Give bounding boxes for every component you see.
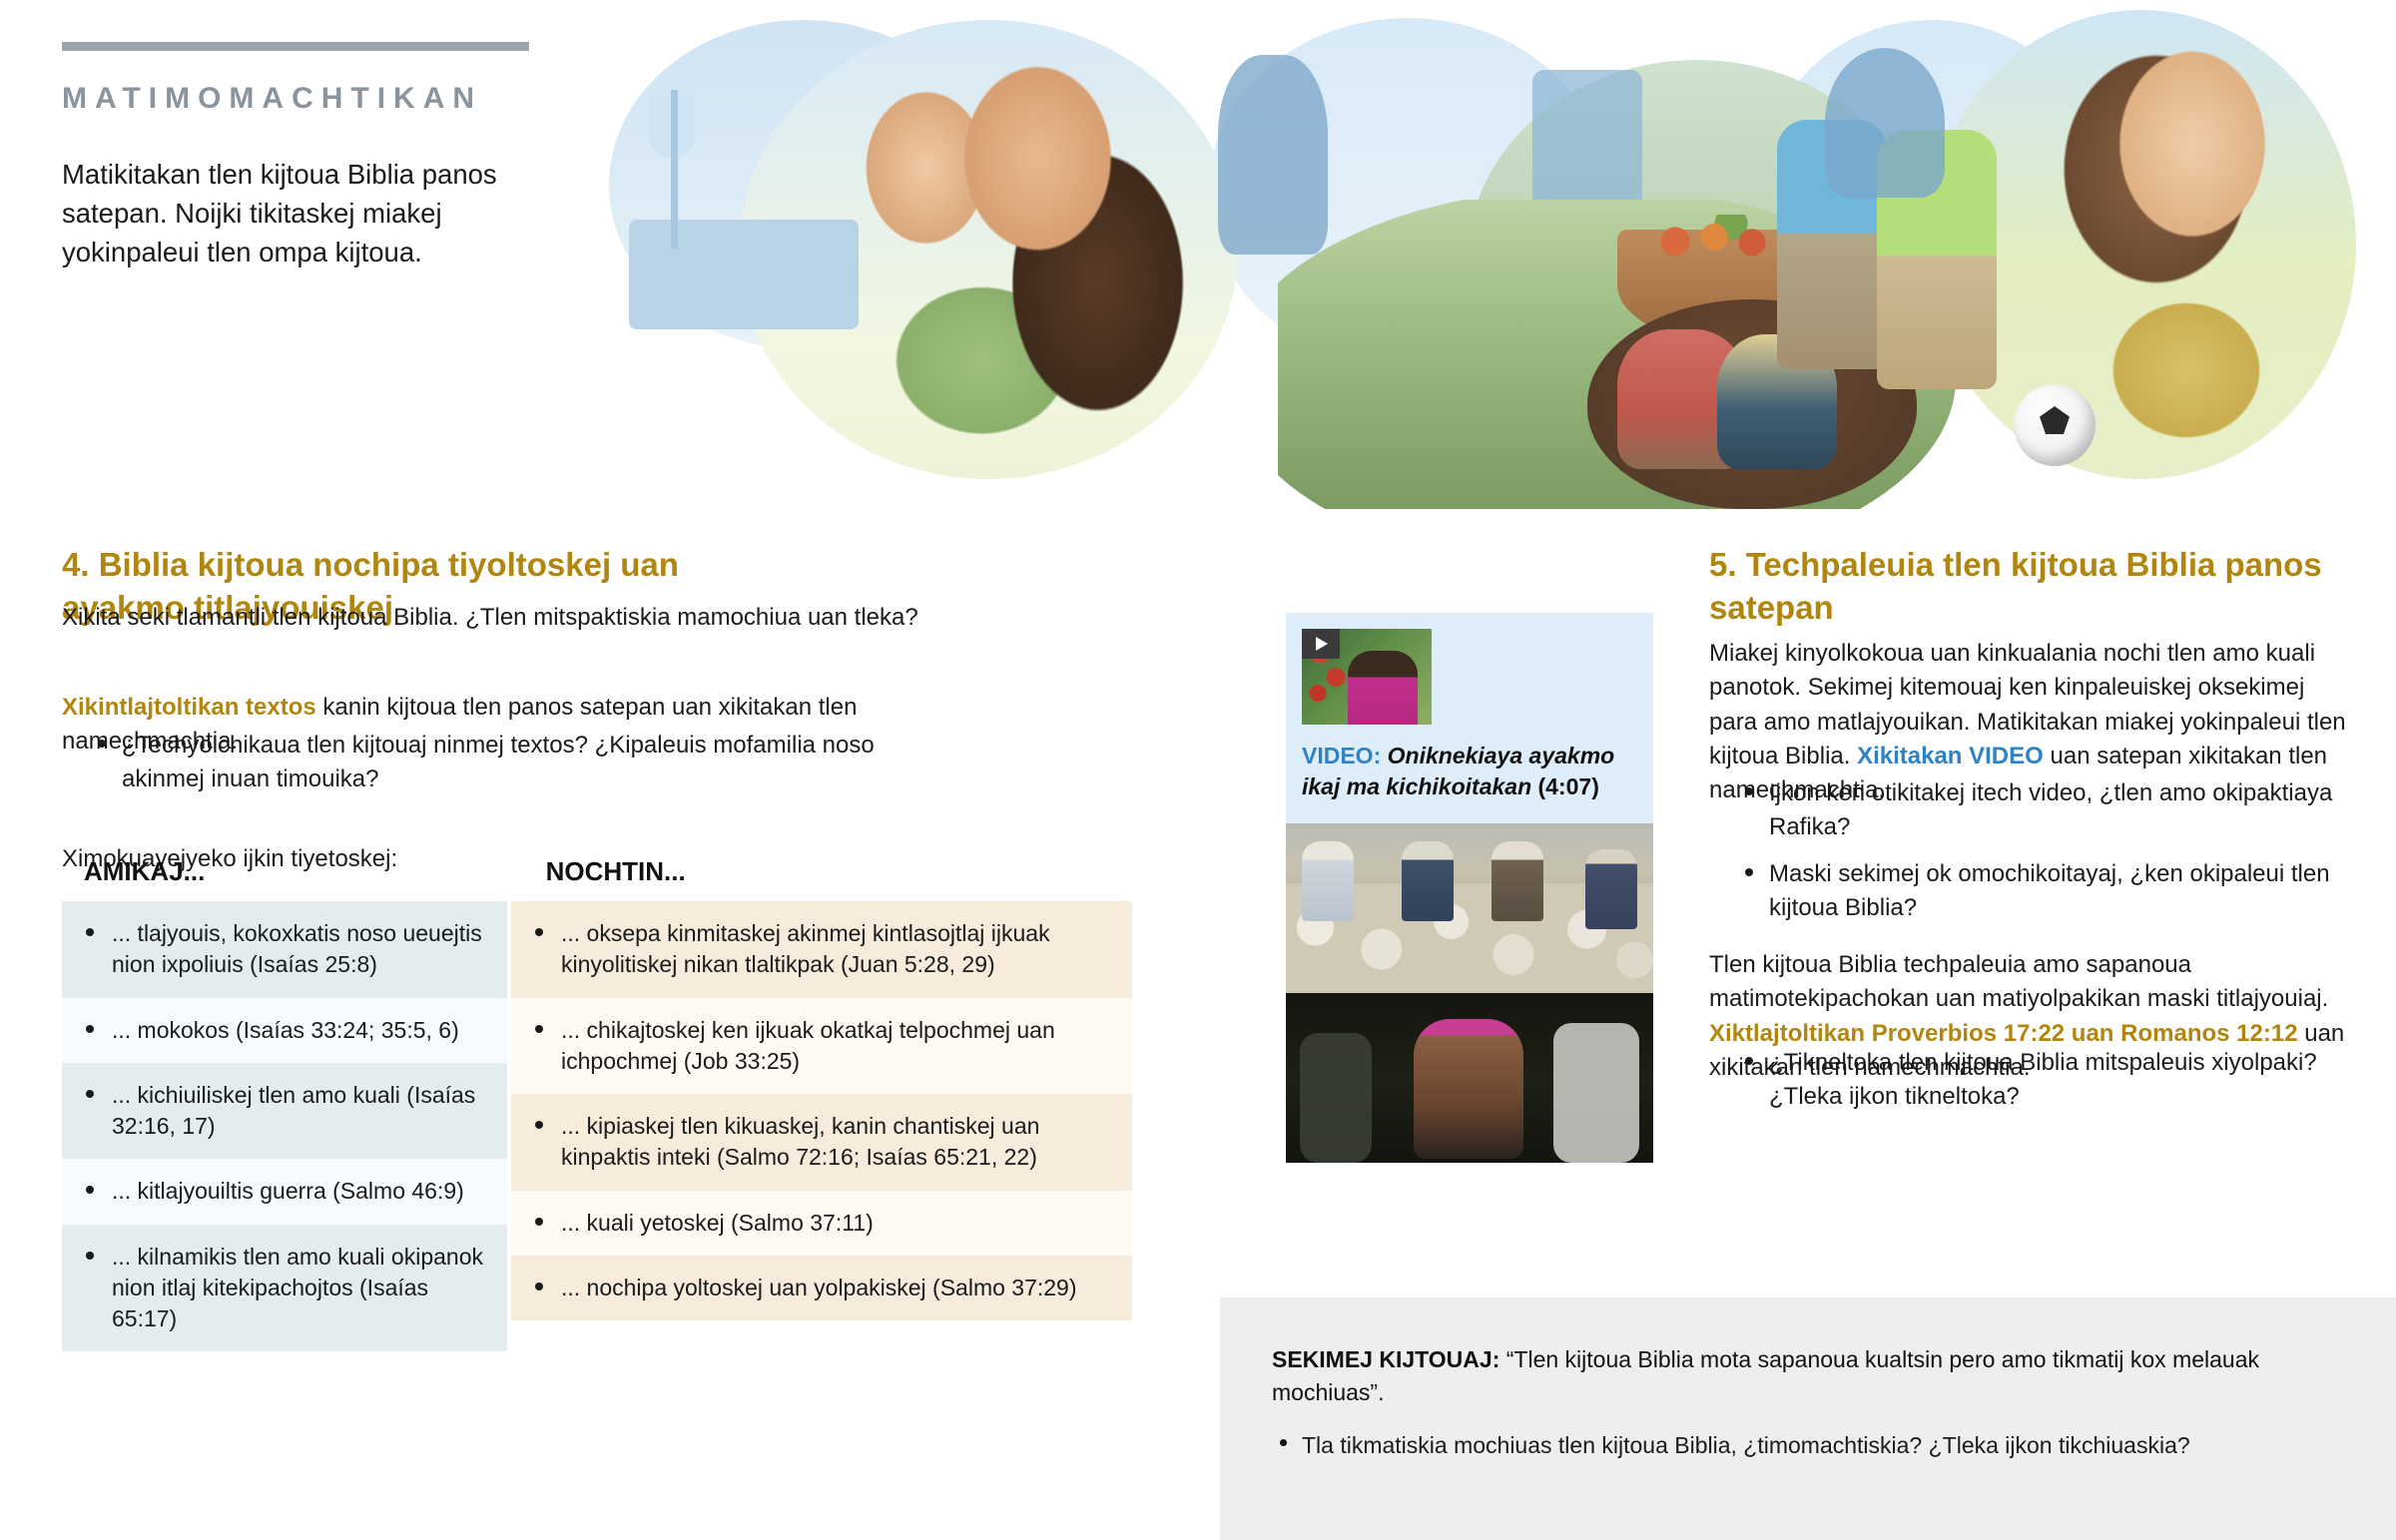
list-item: Tla tikmatiskia mochiuas tlen kijtoua Bi… bbox=[1272, 1429, 2344, 1462]
mother-hugging-child-figure bbox=[789, 30, 1218, 489]
section-5-bullet-list-1: Ijkon ken otikitakej itech video, ¿tlen … bbox=[1735, 776, 2354, 937]
hero-illustration bbox=[579, 0, 2396, 509]
list-item: Maski sekimej ok omochikoitayaj, ¿ken ok… bbox=[1735, 857, 2354, 926]
field-worker-figure bbox=[1585, 849, 1637, 929]
background-person bbox=[1300, 1033, 1372, 1163]
field-worker-figure bbox=[1302, 841, 1354, 921]
column-header-nochtin: NOCHTIN... bbox=[524, 856, 1132, 887]
column-header-amikaj: AMIKAJ... bbox=[62, 856, 524, 887]
field-worker-figure bbox=[1492, 841, 1543, 921]
objection-box: SEKIMEJ KIJTOUAJ: “Tlen kijtoua Biblia m… bbox=[1220, 1297, 2396, 1540]
table-column-right: ... oksepa kinmitaskej akinmej kintlasoj… bbox=[511, 901, 1132, 1320]
list-item: ¿Techyolchikaua tlen kijtouaj ninmej tex… bbox=[88, 729, 887, 797]
table-row: ... tlajyouis, kokoxkatis noso ueuejtis … bbox=[62, 901, 507, 998]
video-panel[interactable]: VIDEO: Oniknekiaya ayakmo ikaj ma kichik… bbox=[1286, 613, 1653, 1163]
scripture-link-1[interactable]: Xikintlajtoltikan textos bbox=[62, 694, 316, 721]
table-column-left: ... tlajyouis, kokoxkatis noso ueuejtis … bbox=[62, 901, 507, 1351]
video-label: VIDEO: Oniknekiaya ayakmo ikaj ma kichik… bbox=[1302, 741, 1637, 803]
table-header-row: AMIKAJ... NOCHTIN... bbox=[62, 856, 1132, 887]
objection-box-inner: SEKIMEJ KIJTOUAJ: “Tlen kijtoua Biblia m… bbox=[1220, 1297, 2396, 1462]
video-still-woman-smiling bbox=[1286, 993, 1653, 1163]
video-thumbnail[interactable] bbox=[1302, 629, 1432, 725]
table-row: ... oksepa kinmitaskej akinmej kintlasoj… bbox=[511, 901, 1132, 998]
table-row: ... kipiaskej tlen kikuaskej, kanin chan… bbox=[511, 1094, 1132, 1191]
walker-frame-figure bbox=[1532, 70, 1642, 220]
table-row: ... mokokos (Isaías 33:24; 35:5, 6) bbox=[62, 998, 507, 1063]
intro-paragraph: Matikitakan tlen kijtoua Biblia panos sa… bbox=[62, 155, 561, 271]
vegetables-icon bbox=[1647, 215, 1787, 259]
background-person bbox=[1553, 1023, 1639, 1163]
comparison-table: AMIKAJ... NOCHTIN... ... tlajyouis, koko… bbox=[62, 856, 1132, 1351]
sad-person-figure bbox=[1825, 48, 1945, 198]
section-5-bullet-list-2: ¿Tikneltoka tlen kijtoua Biblia mitspale… bbox=[1735, 1046, 2354, 1127]
play-icon[interactable] bbox=[1302, 629, 1340, 659]
section-5-heading: 5. Techpaleuia tlen kijtoua Biblia panos… bbox=[1709, 544, 2348, 628]
video-speaker-figure bbox=[1348, 651, 1418, 725]
video-caption-block: VIDEO: Oniknekiaya ayakmo ikaj ma kichik… bbox=[1286, 613, 1653, 823]
objection-bullet-list: Tla tikmatiskia mochiuas tlen kijtoua Bi… bbox=[1272, 1429, 2344, 1462]
table-body: ... tlajyouis, kokoxkatis noso ueuejtis … bbox=[62, 901, 1132, 1351]
page-kicker: MATIMOMACHTIKAN bbox=[62, 82, 482, 116]
field-worker-figure bbox=[1402, 841, 1454, 921]
iv-pole-icon bbox=[671, 90, 678, 250]
woman-with-headband-figure bbox=[1414, 1019, 1523, 1159]
section-4-bullet-list: ¿Techyolchikaua tlen kijtouaj ninmej tex… bbox=[88, 729, 887, 809]
water-carrier-figure bbox=[1218, 55, 1328, 255]
video-duration: (4:07) bbox=[1538, 773, 1599, 799]
page-root: MATIMOMACHTIKAN Matikitakan tlen kijtoua… bbox=[0, 0, 2396, 1540]
header-rule bbox=[62, 42, 529, 51]
scripture-link-2[interactable]: Xiktlajtoltikan Proverbios 17:22 uan Rom… bbox=[1709, 1020, 2298, 1047]
section-4-paragraph-1: Xikita seki tlamantli tlen kijtoua Bibli… bbox=[62, 601, 940, 635]
table-row: ... nochipa yoltoskej uan yolpakiskej (S… bbox=[511, 1256, 1132, 1320]
table-row: ... kuali yetoskej (Salmo 37:11) bbox=[511, 1191, 1132, 1256]
section-5-paragraph-2-a: Tlen kijtoua Biblia techpaleuia amo sapa… bbox=[1709, 951, 2328, 1012]
table-row: ... kichiuiliskej tlen amo kuali (Isaías… bbox=[62, 1063, 507, 1160]
video-still-cotton-field bbox=[1286, 823, 1653, 993]
video-tag: VIDEO: bbox=[1302, 743, 1381, 769]
table-row: ... kilnamikis tlen amo kuali okipanok n… bbox=[62, 1225, 507, 1352]
table-row: ... kitlajyouiltis guerra (Salmo 46:9) bbox=[62, 1159, 507, 1224]
objection-lead: SEKIMEJ KIJTOUAJ: “Tlen kijtoua Biblia m… bbox=[1272, 1343, 2344, 1409]
video-link[interactable]: Xikitakan VIDEO bbox=[1857, 743, 2044, 770]
objection-label: SEKIMEJ KIJTOUAJ: bbox=[1272, 1346, 1499, 1372]
table-row: ... chikajtoskej ken ijkuak okatkaj telp… bbox=[511, 998, 1132, 1095]
list-item: Ijkon ken otikitakej itech video, ¿tlen … bbox=[1735, 776, 2354, 845]
smiling-woman-figure bbox=[2037, 35, 2336, 454]
list-item: ¿Tikneltoka tlen kijtoua Biblia mitspale… bbox=[1735, 1046, 2354, 1115]
